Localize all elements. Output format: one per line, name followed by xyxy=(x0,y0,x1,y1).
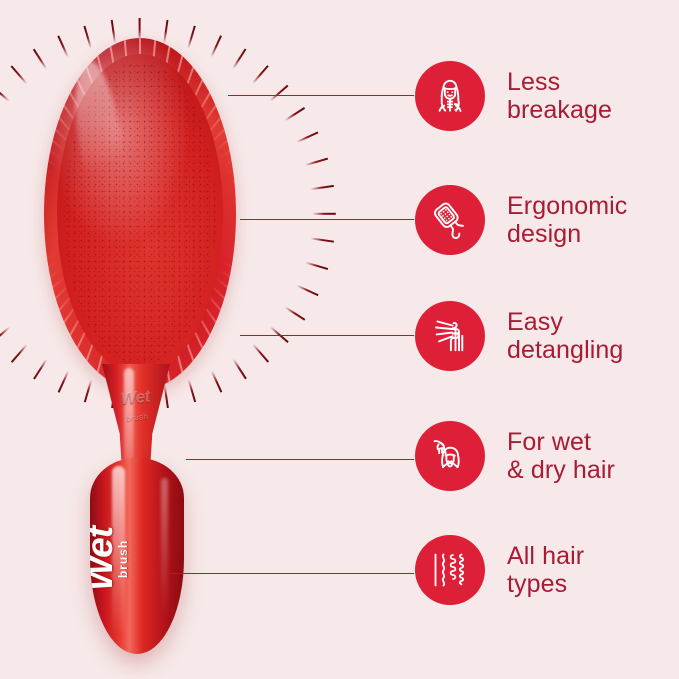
product-feature-infographic: Wet brush Wet brush xyxy=(0,0,679,679)
brush-handle-logo: Wet brush xyxy=(90,515,184,603)
logo-wet-text: Wet xyxy=(90,515,118,603)
feature-label: Ergonomic design xyxy=(507,192,679,248)
shower-head-over-woman-icon xyxy=(415,421,485,491)
feature-all-hair-types: All hair types xyxy=(300,522,679,618)
paddle-brush-icon xyxy=(415,185,485,255)
feature-label: All hair types xyxy=(507,542,679,598)
product-image-area: Wet brush Wet brush xyxy=(0,0,300,679)
feature-less-breakage: Less breakage xyxy=(300,48,679,144)
neck-logo-primary: Wet xyxy=(120,387,151,409)
brush-neck-embossed-logo: Wet brush xyxy=(106,385,165,427)
feature-label: For wet & dry hair xyxy=(507,428,679,484)
feature-ergonomic-design: Ergonomic design xyxy=(300,172,679,268)
feature-list: Less breakage xyxy=(300,0,679,679)
feature-label: Less breakage xyxy=(507,68,679,124)
hair-brush-product: Wet brush Wet brush xyxy=(28,38,243,652)
brush-head xyxy=(44,38,236,390)
feature-for-wet-and-dry-hair: For wet & dry hair xyxy=(300,408,679,504)
brush-handle: Wet brush xyxy=(90,458,184,654)
girl-with-long-hair-icon xyxy=(415,61,485,131)
neck-logo-secondary: brush xyxy=(108,405,166,431)
hand-combing-hair-icon xyxy=(415,301,485,371)
hair-texture-types-icon xyxy=(415,535,485,605)
feature-easy-detangling: Easy detangling xyxy=(300,288,679,384)
feature-label: Easy detangling xyxy=(507,308,679,364)
